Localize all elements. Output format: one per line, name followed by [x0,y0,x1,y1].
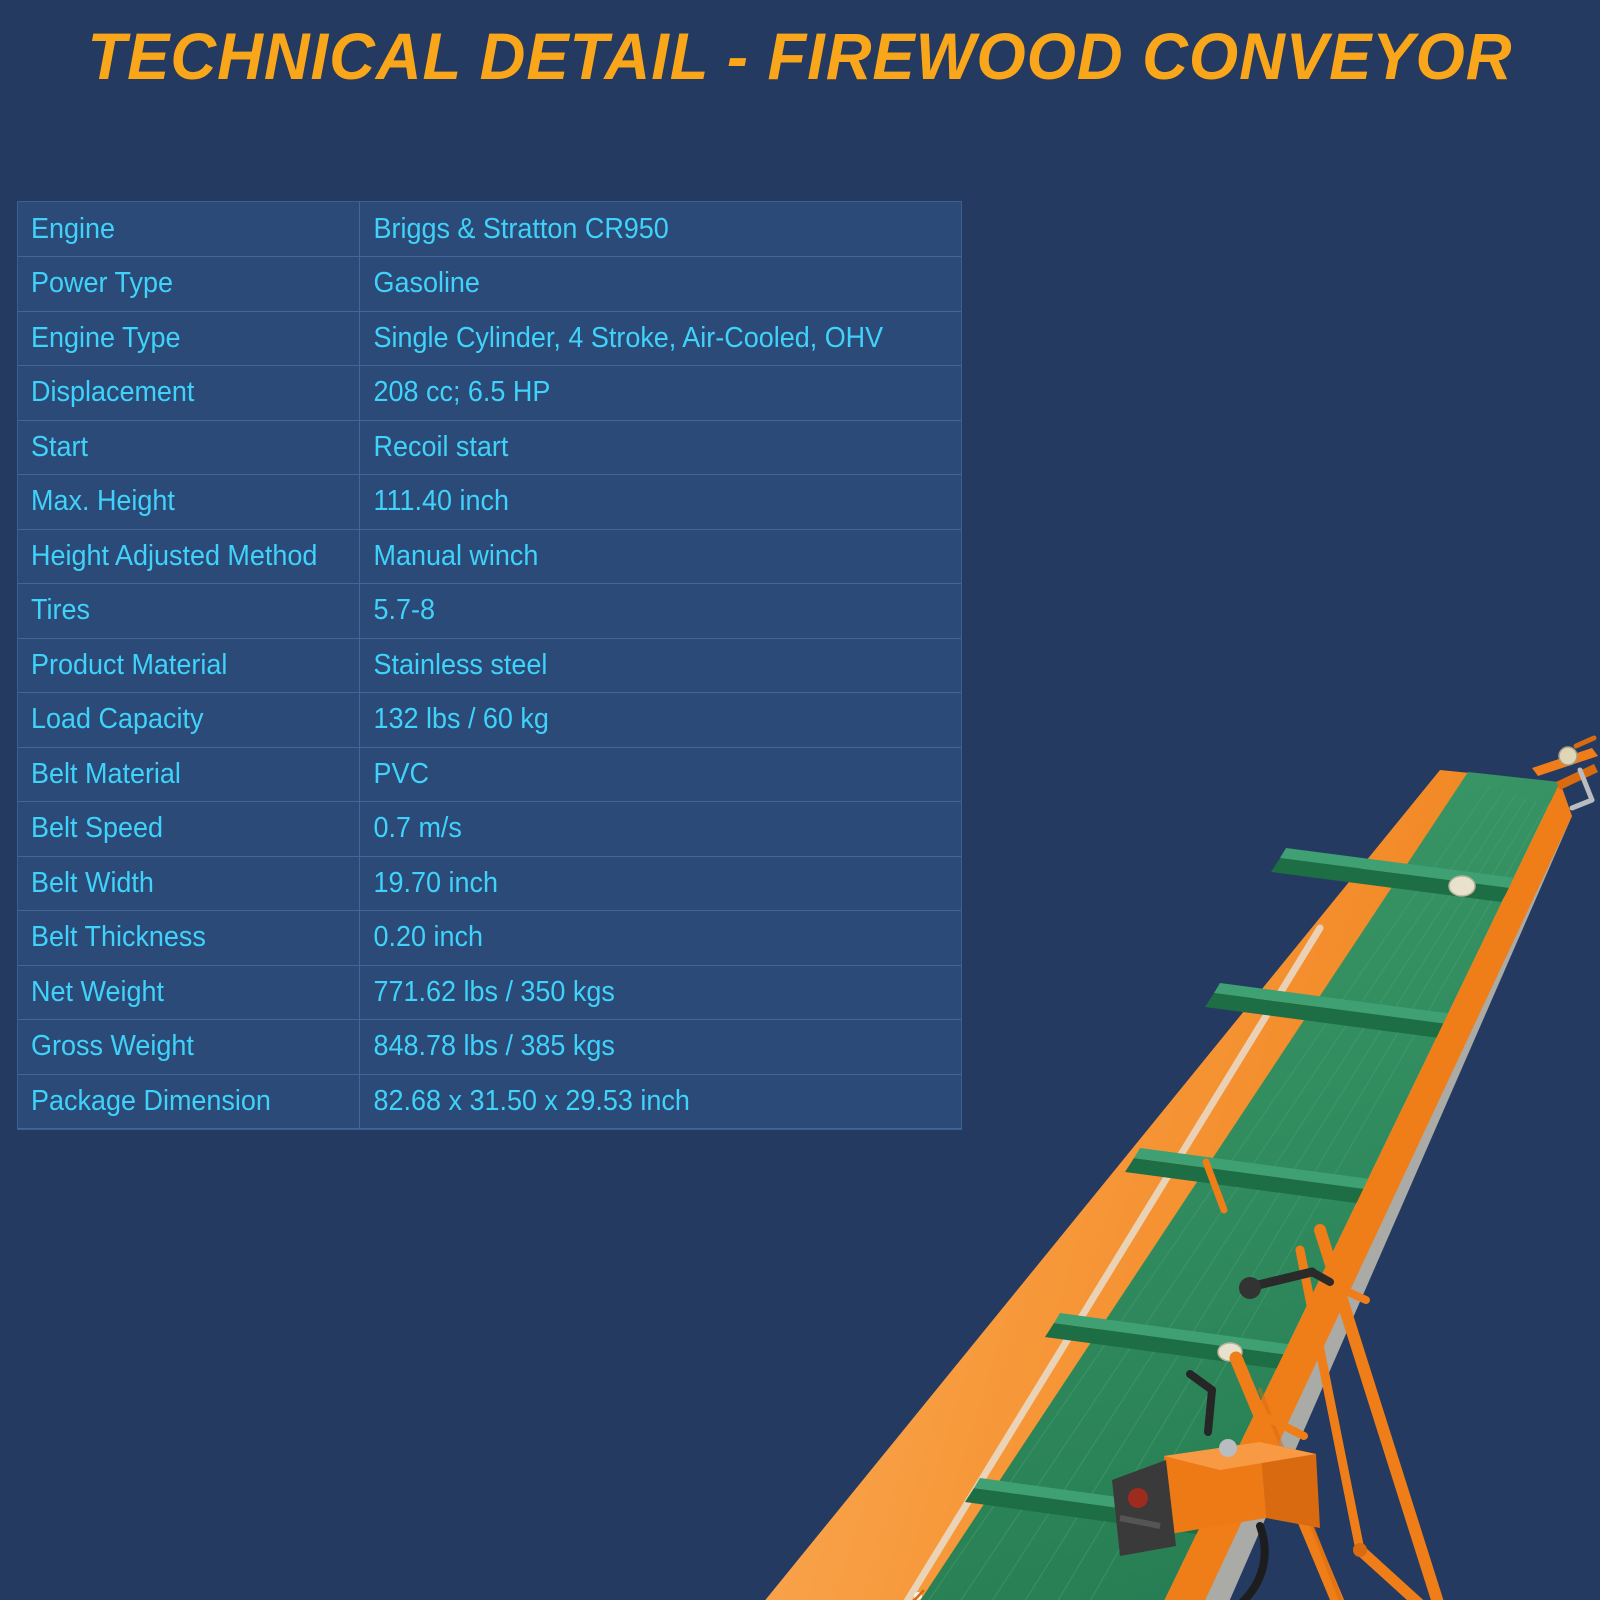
table-row: Engine Type Single Cylinder, 4 Stroke, A… [18,311,961,366]
spec-value: 5.7-8 [360,584,919,639]
table-row: Power Type Gasoline [18,257,961,312]
spec-value: Single Cylinder, 4 Stroke, Air-Cooled, O… [360,311,919,366]
spec-value: 208 cc; 6.5 HP [360,366,919,421]
spec-key: Engine Type [18,311,336,366]
spec-value: Recoil start [360,420,919,475]
product-image-firewood-conveyor [560,690,1600,1600]
spec-key: Package Dimension [18,1074,336,1129]
spec-key: Belt Speed [18,802,336,857]
spec-key: Belt Material [18,747,336,802]
spec-key: Load Capacity [18,693,336,748]
spec-value: Manual winch [360,529,919,584]
spec-key: Net Weight [18,965,336,1020]
spec-value: 111.40 inch [360,475,919,530]
spec-value: Stainless steel [360,638,919,693]
spec-key: Start [18,420,336,475]
spec-key: Belt Width [18,856,336,911]
spec-key: Belt Thickness [18,911,336,966]
table-row: Tires 5.7-8 [18,584,961,639]
spec-key: Height Adjusted Method [18,529,336,584]
table-row: Start Recoil start [18,420,961,475]
spec-key: Gross Weight [18,1020,336,1075]
spec-key: Tires [18,584,336,639]
spec-key: Engine [18,202,336,257]
table-row: Height Adjusted Method Manual winch [18,529,961,584]
spec-value: Briggs & Stratton CR950 [360,202,919,257]
table-row: Product Material Stainless steel [18,638,961,693]
spec-key: Displacement [18,366,336,421]
spec-key: Product Material [18,638,336,693]
table-row: Displacement 208 cc; 6.5 HP [18,366,961,421]
spec-key: Power Type [18,257,336,312]
table-row: Max. Height 111.40 inch [18,475,961,530]
table-row: Engine Briggs & Stratton CR950 [18,202,961,257]
page-title: TECHNICAL DETAIL - FIREWOOD CONVEYOR [32,18,1568,94]
spec-value: Gasoline [360,257,919,312]
spec-key: Max. Height [18,475,336,530]
